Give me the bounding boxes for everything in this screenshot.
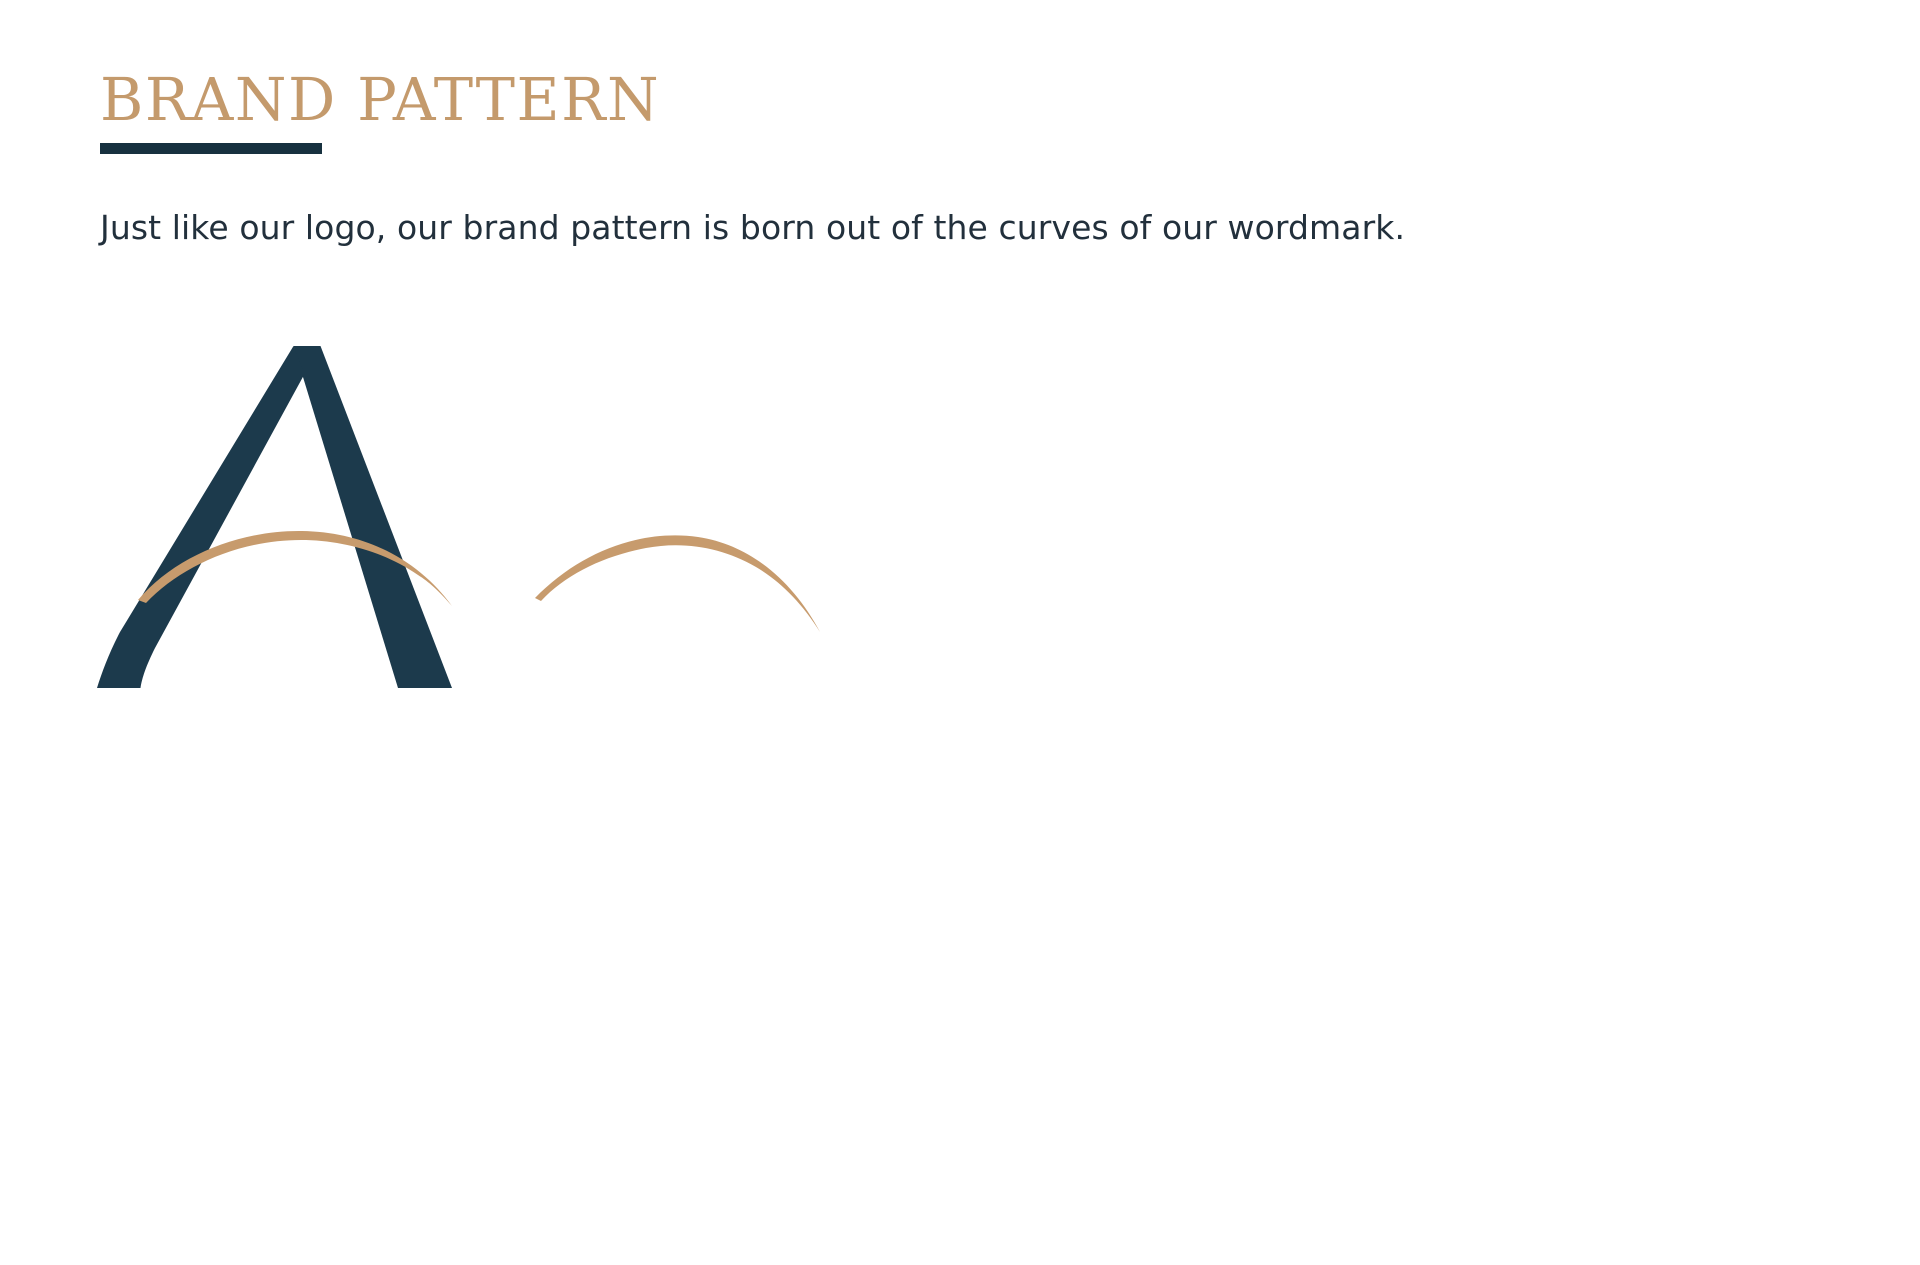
monogram-right-stroke: [294, 346, 453, 688]
page-title: BRAND PATTERN: [100, 70, 1600, 129]
page-header: BRAND PATTERN: [100, 70, 1600, 154]
title-underline-rule: [100, 143, 322, 154]
page-subtitle: Just like our logo, our brand pattern is…: [100, 206, 1405, 251]
detached-pattern-arc: [535, 535, 820, 632]
monogram-letter-a-icon: [97, 346, 452, 688]
brand-pattern-page: BRAND PATTERN Just like our logo, our br…: [0, 0, 1920, 1265]
brand-pattern-svg: [80, 300, 1080, 770]
brand-pattern-artwork: [80, 300, 1080, 770]
monogram-left-stroke: [97, 346, 305, 688]
